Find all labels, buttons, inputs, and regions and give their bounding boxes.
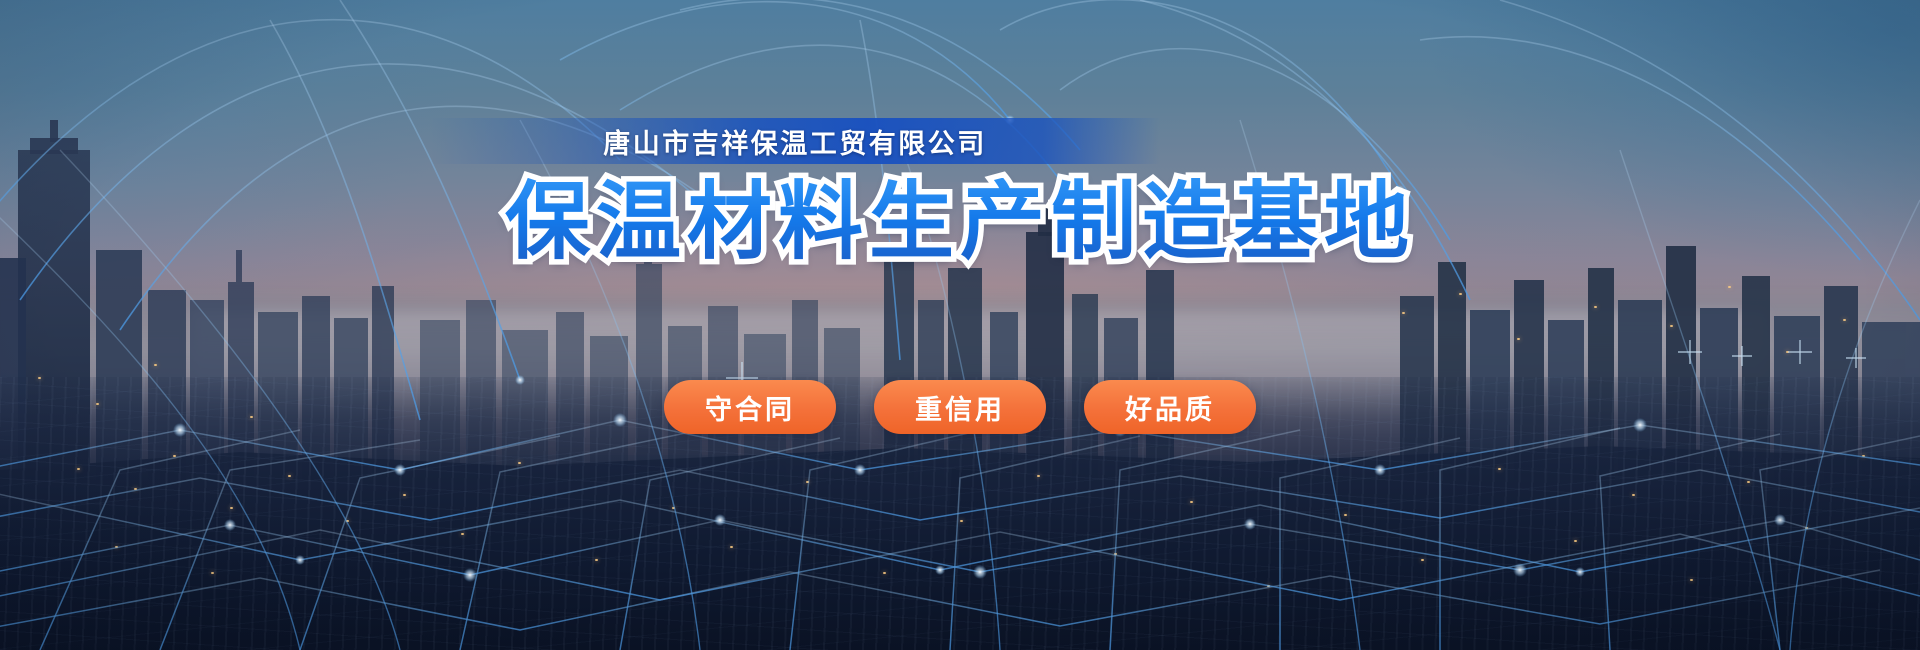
hero-banner: 唐山市吉祥保温工贸有限公司 保温材料生产制造基地 保温材料生产制造基地 守合同 …	[0, 0, 1920, 650]
banner-content: 唐山市吉祥保温工贸有限公司 保温材料生产制造基地 保温材料生产制造基地 守合同 …	[0, 0, 1920, 650]
headline: 保温材料生产制造基地 保温材料生产制造基地	[505, 178, 1415, 268]
slogan-pill-3[interactable]: 好品质	[1084, 380, 1256, 434]
slogan-pill-group: 守合同 重信用 好品质	[0, 380, 1920, 434]
company-name: 唐山市吉祥保温工贸有限公司	[603, 122, 987, 161]
slogan-pill-2-label: 重信用	[915, 388, 1005, 427]
slogan-pill-1-label: 守合同	[705, 388, 795, 427]
slogan-pill-3-label: 好品质	[1125, 388, 1215, 427]
headline-wrapper: 保温材料生产制造基地 保温材料生产制造基地	[0, 178, 1920, 268]
slogan-pill-2[interactable]: 重信用	[874, 380, 1046, 434]
company-name-bar: 唐山市吉祥保温工贸有限公司	[430, 118, 1160, 164]
headline-fill: 保温材料生产制造基地	[505, 178, 1415, 268]
slogan-pill-1[interactable]: 守合同	[664, 380, 836, 434]
